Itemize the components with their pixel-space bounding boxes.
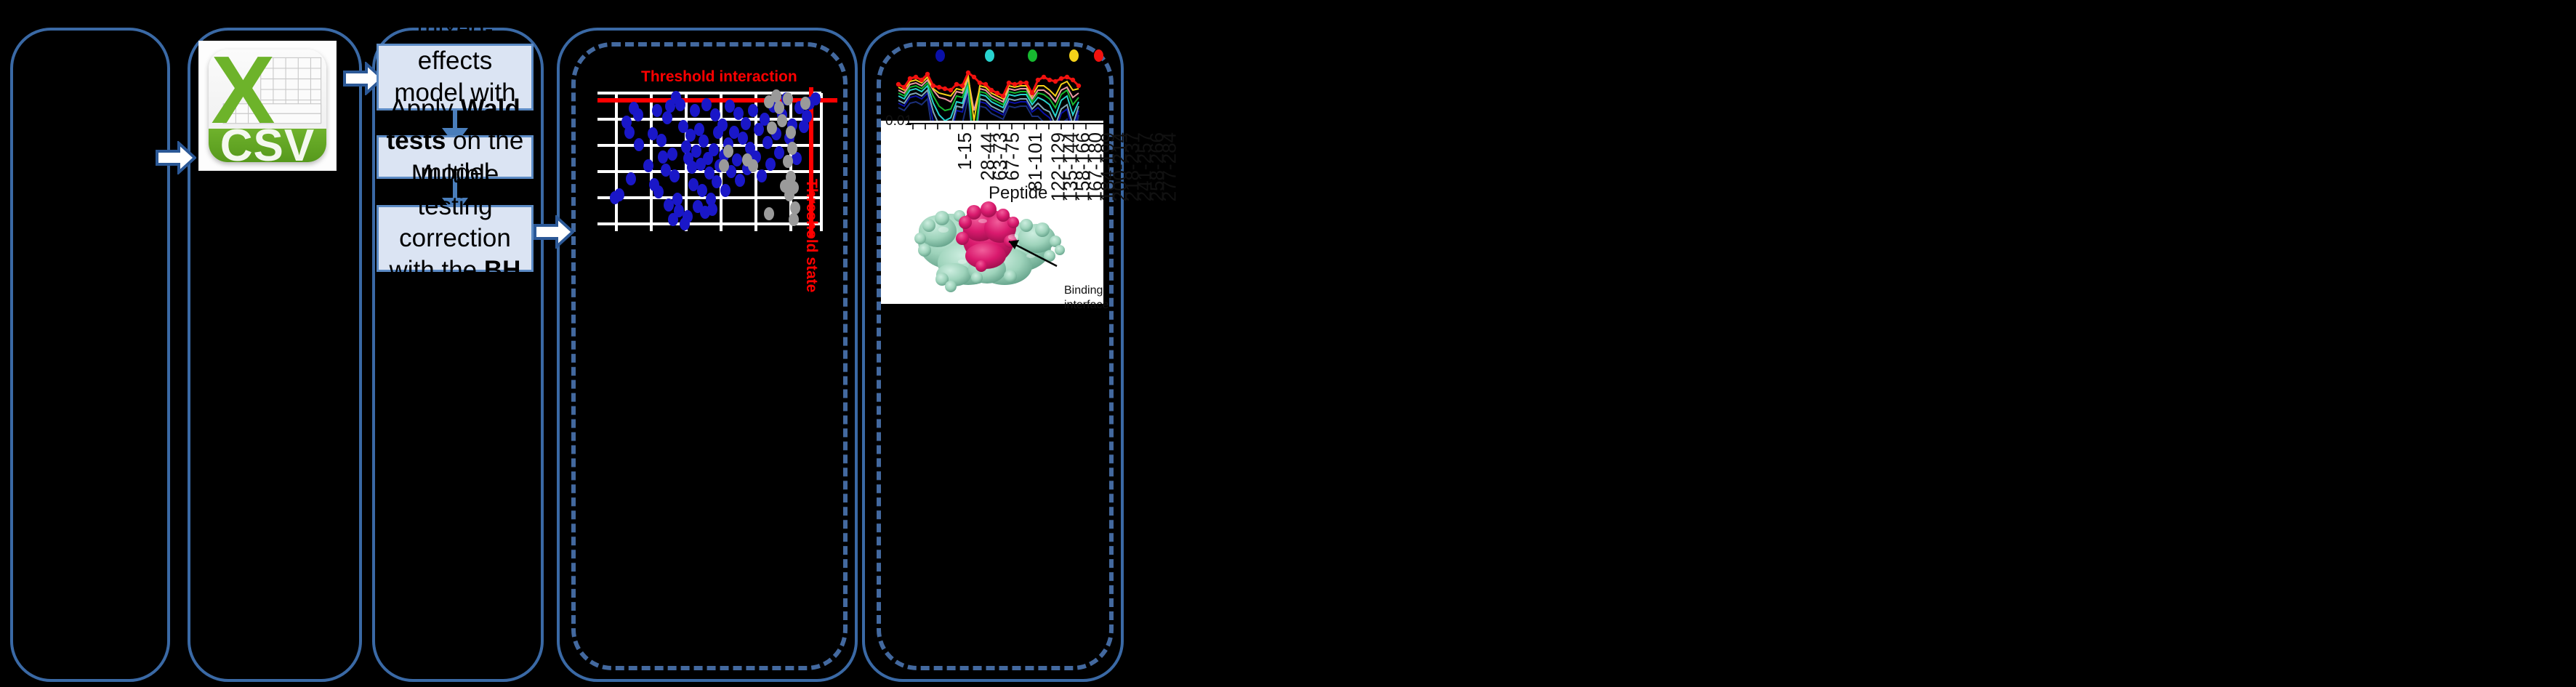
volcano-plot-canvas [581,63,837,237]
legend-dot-green [1028,49,1037,62]
peptide-tick-3: 67-75 [1002,132,1024,181]
excel-x-glyph: X [211,49,260,113]
csv-label: CSV [220,120,315,163]
structure-overlay-card: 0.01 1-15 28-44 63-73 67-75 81-101 122-1… [881,121,1103,304]
panel-1-empty [10,28,170,682]
arrow-model-to-results [534,215,574,249]
volcano-plot: Threshold interaction [581,63,837,237]
peptide-tick-14: 277-284 [1158,132,1180,201]
legend-dot-cyan [985,49,994,62]
threshold-state-label: Threshold state [802,179,820,292]
binding-interface-annotation: Binding interface [1064,284,1108,312]
csv-file-icon[interactable]: X CSV [199,41,336,170]
peptide-tick-4: 81-101 [1024,132,1047,191]
legend-dot-yellow [1069,49,1079,62]
legend-dot-darkblue [935,49,945,62]
step-multiple-testing[interactable]: Multiple testing correctionwith the BH p… [377,205,534,272]
csv-green-band: CSV [209,129,326,163]
step-multiple-testing-text: Multiple testing correctionwith the BH p… [386,158,524,318]
csv-tile: X CSV [209,49,326,163]
peptide-tick-0: 1-15 [954,132,976,170]
legend-dot-red [1094,49,1103,62]
binding-label-line2: interface [1064,298,1108,313]
arrow-into-csv [156,141,196,174]
binding-label-line1: Binding [1064,284,1108,298]
